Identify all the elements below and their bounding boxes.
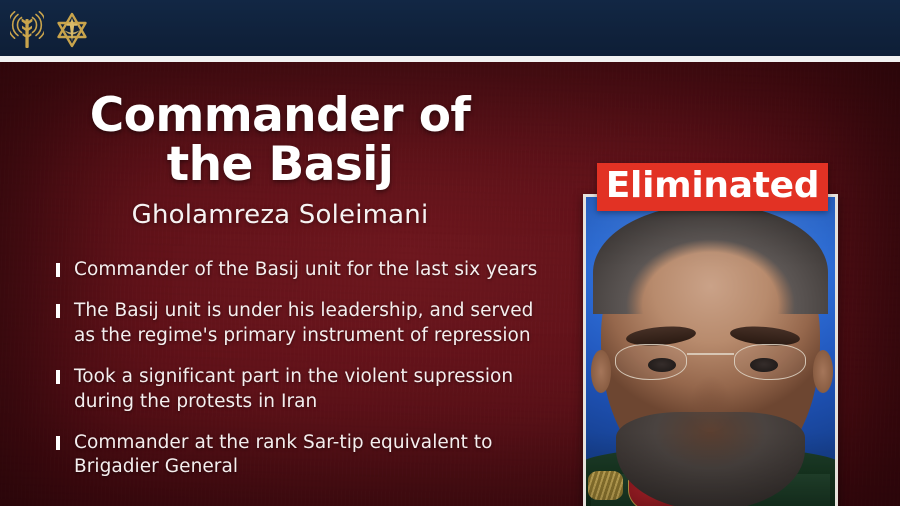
page-title: Commander of the Basij — [0, 92, 560, 190]
list-item: Commander at the rank Sar-tip equivalent… — [56, 431, 556, 480]
list-item-text: The Basij unit is under his leadership, … — [74, 299, 556, 348]
list-item: Commander of the Basij unit for the last… — [56, 258, 556, 282]
status-badge-label: Eliminated — [606, 168, 819, 204]
portrait-photo-image — [586, 197, 835, 506]
list-item-text: Commander at the rank Sar-tip equivalent… — [74, 431, 556, 480]
idf-emblem-icon — [50, 9, 94, 51]
bullet-marker-icon — [56, 263, 60, 277]
page-title-line2: the Basij — [0, 141, 560, 190]
bullet-list: Commander of the Basij unit for the last… — [56, 258, 556, 497]
status-badge: Eliminated — [597, 163, 828, 211]
page-subtitle: Gholamreza Soleimani — [0, 200, 560, 230]
bullet-marker-icon — [56, 304, 60, 318]
portrait-photo — [583, 194, 838, 506]
list-item-text: Commander of the Basij unit for the last… — [74, 258, 537, 282]
list-item: Took a significant part in the violent s… — [56, 365, 556, 414]
bullet-marker-icon — [56, 436, 60, 450]
header-bar — [0, 0, 900, 56]
broadcast-tower-icon — [10, 10, 44, 50]
list-item-text: Took a significant part in the violent s… — [74, 365, 556, 414]
slide-body: Commander of the Basij Gholamreza Soleim… — [0, 62, 900, 506]
page-title-line1: Commander of — [0, 92, 560, 141]
slide-root: Commander of the Basij Gholamreza Soleim… — [0, 0, 900, 506]
list-item: The Basij unit is under his leadership, … — [56, 299, 556, 348]
bullet-marker-icon — [56, 370, 60, 384]
header-icon-group — [10, 9, 94, 51]
